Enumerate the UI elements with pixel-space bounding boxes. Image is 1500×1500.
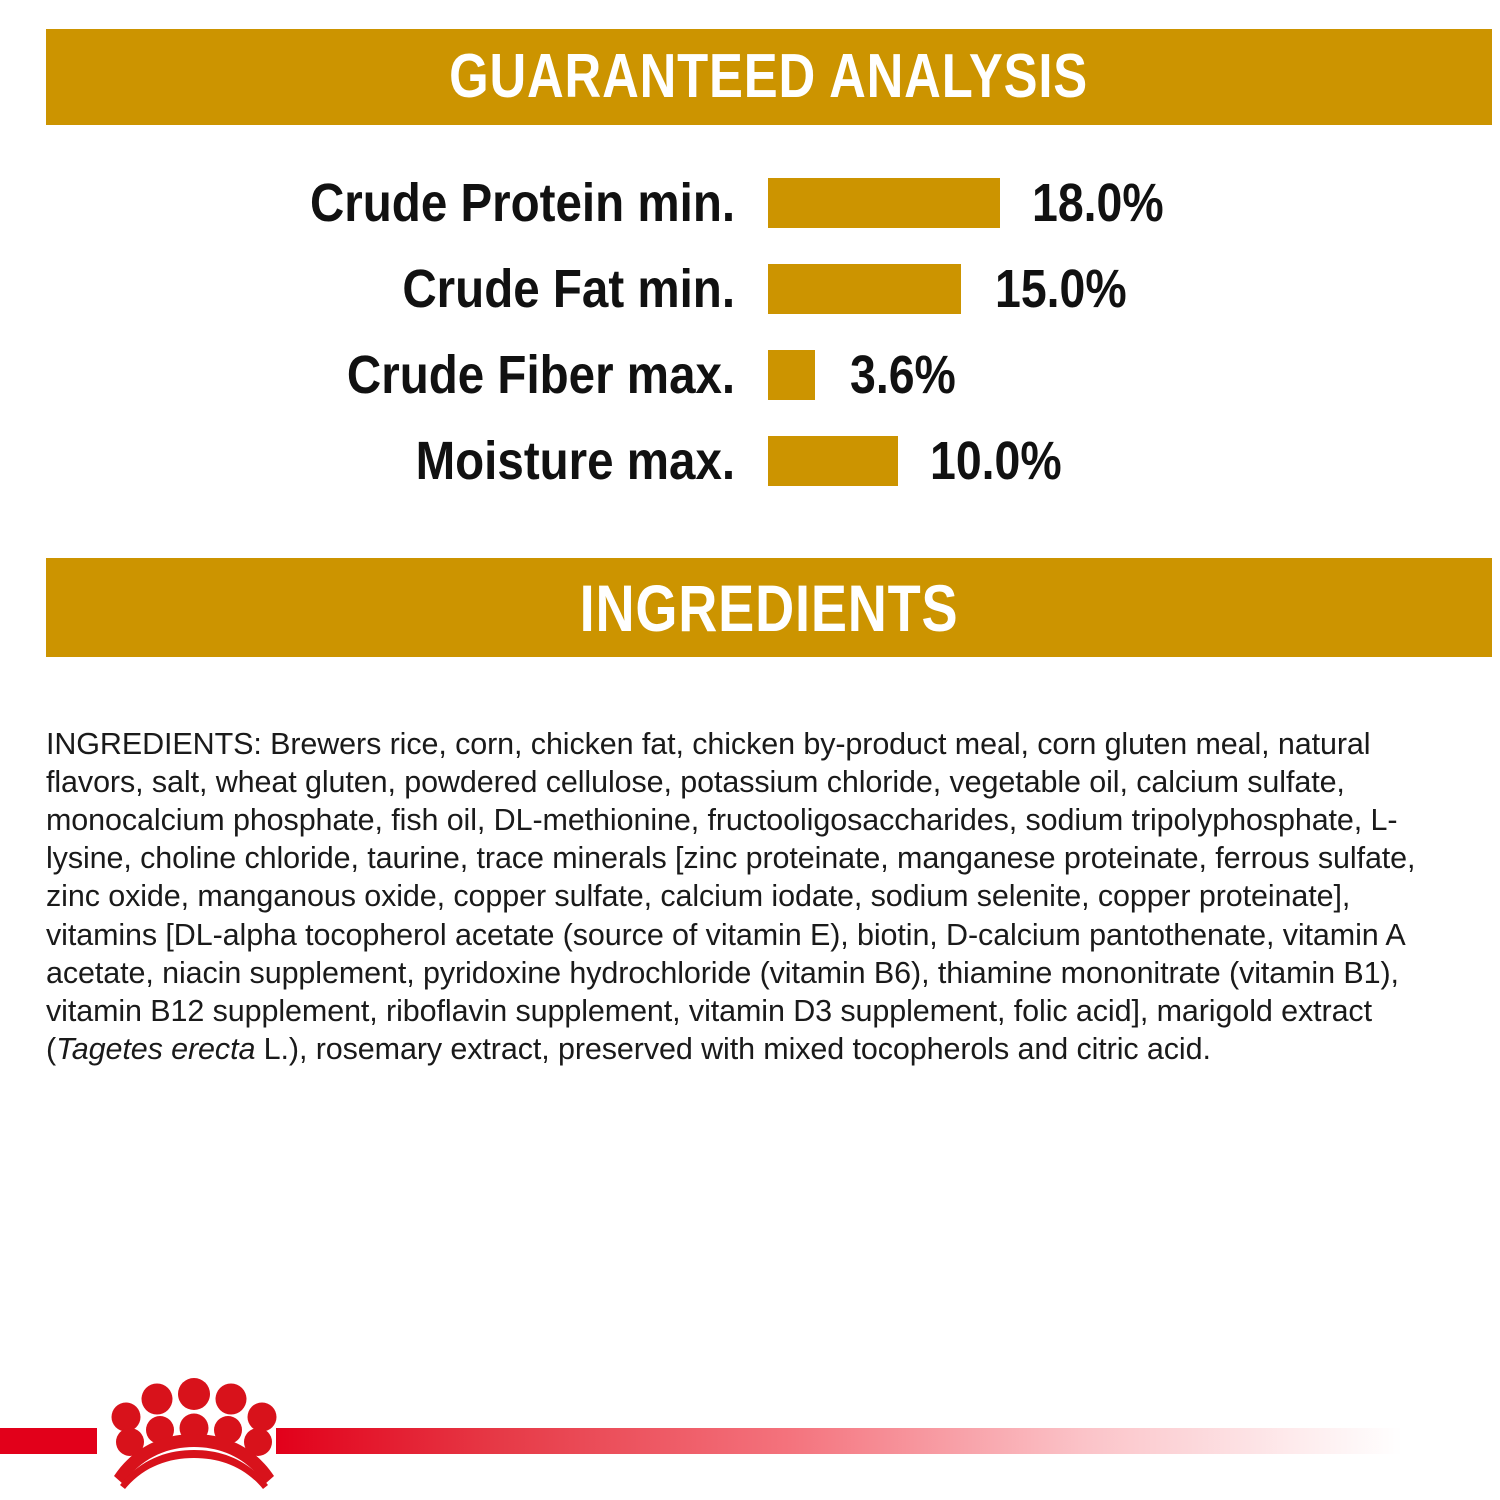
analysis-bar-crude-protein	[768, 178, 1000, 228]
analysis-label-crude-fiber: Crude Fiber max.	[347, 348, 735, 402]
footer-rule-right	[276, 1428, 1500, 1454]
guaranteed-analysis-table: Crude Protein min. 18.0% Crude Fat min. …	[0, 160, 1500, 504]
ingredients-header-bar: INGREDIENTS	[46, 558, 1492, 657]
analysis-value-crude-fat: 15.0%	[995, 262, 1127, 316]
ingredients-body-part-1: Brewers rice, corn, chicken fat, chicken…	[46, 727, 1415, 1067]
analysis-bar-crude-fat	[768, 264, 961, 314]
table-row: Crude Fat min. 15.0%	[0, 246, 1500, 332]
table-row: Crude Fiber max. 3.6%	[0, 332, 1500, 418]
analysis-bar-crude-fiber	[768, 350, 815, 400]
ingredients-species-italic: Tagetes erecta	[56, 1032, 255, 1066]
analysis-value-crude-fiber: 3.6%	[850, 348, 956, 402]
analysis-value-crude-protein: 18.0%	[1032, 176, 1164, 230]
footer	[0, 1370, 1500, 1500]
analysis-value-moisture: 10.0%	[930, 434, 1062, 488]
analysis-bar-moisture	[768, 436, 898, 486]
footer-rule-left	[0, 1428, 97, 1454]
table-row: Moisture max. 10.0%	[0, 418, 1500, 504]
ingredients-paragraph: INGREDIENTS: Brewers rice, corn, chicken…	[46, 725, 1446, 1069]
guaranteed-analysis-title: GUARANTEED ANALYSIS	[450, 46, 1089, 108]
analysis-label-crude-fat: Crude Fat min.	[402, 262, 735, 316]
ingredients-title: INGREDIENTS	[580, 575, 959, 641]
table-row: Crude Protein min. 18.0%	[0, 160, 1500, 246]
analysis-label-crude-protein: Crude Protein min.	[310, 176, 735, 230]
analysis-label-moisture: Moisture max.	[415, 434, 735, 488]
ingredients-body-part-2: L.), rosemary extract, preserved with mi…	[255, 1032, 1211, 1066]
guaranteed-analysis-header-bar: GUARANTEED ANALYSIS	[46, 29, 1492, 125]
ingredients-prefix: INGREDIENTS:	[46, 727, 262, 761]
royal-canin-crown-logo	[104, 1372, 284, 1490]
